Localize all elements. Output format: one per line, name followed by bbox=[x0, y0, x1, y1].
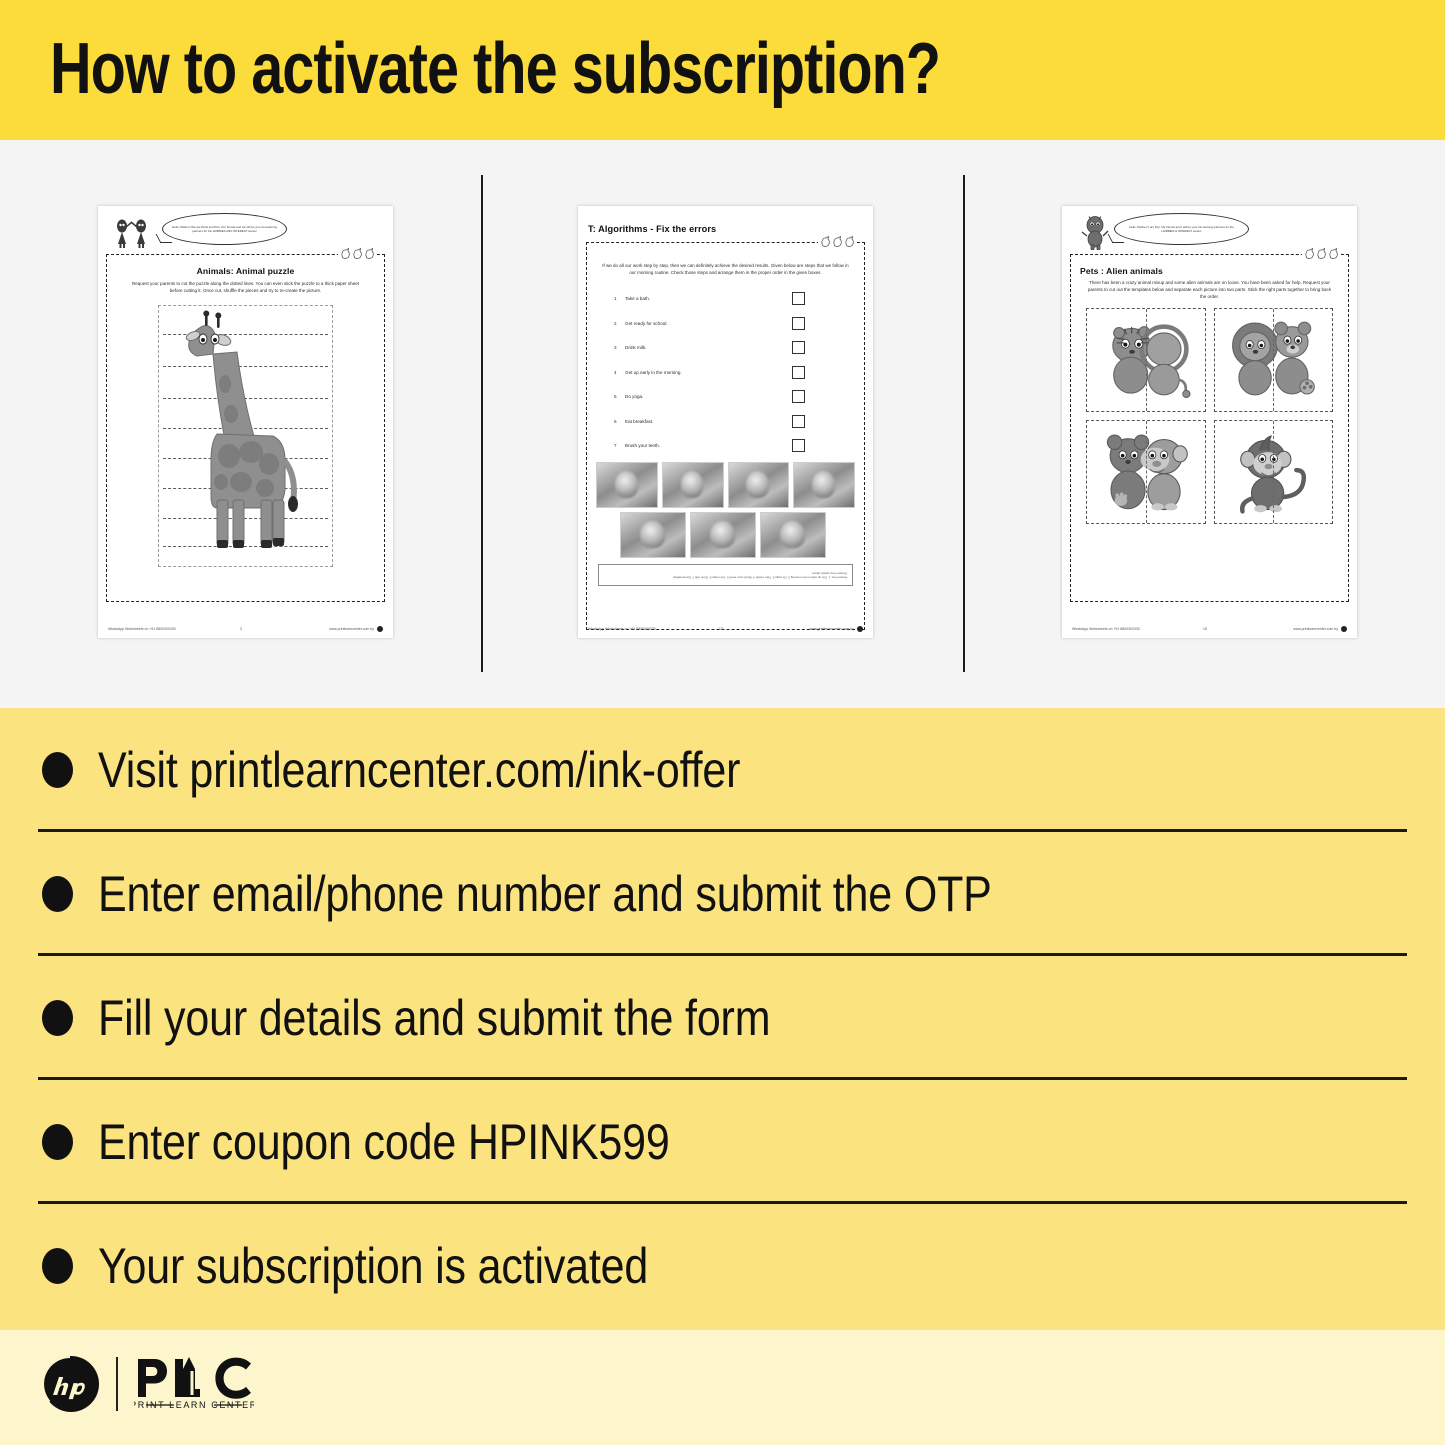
worksheet-dashed-frame: Animals: Animal puzzle Request your pare… bbox=[106, 254, 385, 602]
duck-decoration-icon bbox=[1302, 247, 1341, 259]
step-item-1: Visit printlearncenter.com/ink-offer bbox=[0, 708, 1445, 832]
worksheet-title: Pets : Alien animals bbox=[1080, 266, 1339, 276]
child-eating-breakfast-photo bbox=[690, 512, 756, 558]
step-checkbox[interactable] bbox=[792, 366, 805, 379]
bullet-dot-icon bbox=[42, 1248, 73, 1284]
photo-row-2 bbox=[620, 512, 855, 558]
worksheet-description: Request your parents to cut the puzzle a… bbox=[126, 281, 365, 295]
child-stretching-photo bbox=[596, 462, 658, 508]
activation-steps-list: Visit printlearncenter.com/ink-offer Ent… bbox=[0, 708, 1445, 1330]
hp-logo-icon bbox=[42, 1355, 100, 1413]
checklist-row[interactable]: 4 Get up early in the morning. bbox=[614, 360, 851, 385]
checklist-row[interactable]: 6 Eat breakfast. bbox=[614, 409, 851, 434]
step-label: Brush your teeth. bbox=[625, 443, 792, 448]
mascot-row: Hello children! We are Dhoti and Roti. O… bbox=[106, 212, 385, 252]
step-number: 2 bbox=[614, 321, 625, 326]
mascot-row: Hello children! I am Pop. My friends and… bbox=[1070, 212, 1349, 252]
plc-logo-icon: PRINT LEARN CENTER bbox=[134, 1353, 254, 1415]
worksheet-footer: WhatsApp Worksheets on +91 8800300330 3 … bbox=[108, 626, 383, 632]
split-animal-card-grid bbox=[1086, 308, 1333, 524]
checklist-row[interactable]: 5 Do yoga. bbox=[614, 385, 851, 410]
bullet-dot-icon bbox=[42, 876, 73, 912]
bullet-dot-icon bbox=[42, 1124, 73, 1160]
worksheet-description: If we do all our work step by step, then… bbox=[602, 263, 849, 277]
monkey-monkey-split-card[interactable] bbox=[1214, 420, 1334, 524]
worksheet-footer-right: www.printlearncenter.com by bbox=[734, 627, 854, 631]
step-text: Your subscription is activated bbox=[98, 1237, 648, 1295]
checklist-row[interactable]: 7 Brush your teeth. bbox=[614, 434, 851, 459]
brand-footer: PRINT LEARN CENTER bbox=[0, 1330, 1445, 1445]
worksheet-footer-right: www.printlearncenter.com by bbox=[1218, 627, 1338, 631]
duck-decoration-icon bbox=[818, 235, 857, 247]
step-checkbox[interactable] bbox=[792, 341, 805, 354]
card-cut-line bbox=[1146, 421, 1147, 523]
checklist-row[interactable]: 2 Get ready for school. bbox=[614, 311, 851, 336]
header-banner: How to activate the subscription? bbox=[0, 0, 1445, 140]
lion-bear-split-card[interactable] bbox=[1214, 308, 1334, 412]
step-checkbox[interactable] bbox=[792, 415, 805, 428]
checklist-row[interactable]: 3 Drink milk. bbox=[614, 336, 851, 361]
speech-bubble: Hello children! We are Dhoti and Roti. O… bbox=[162, 213, 287, 245]
worksheet-footer-right: www.printlearncenter.com by bbox=[254, 627, 374, 631]
plc-tagline-text: PRINT LEARN CENTER bbox=[134, 1400, 254, 1410]
worksheet-footer-left: WhatsApp Worksheets on +91 8800300330 bbox=[108, 627, 228, 631]
worksheet-showcase: Hello children! We are Dhoti and Roti. O… bbox=[0, 140, 1445, 708]
checklist-row[interactable]: 1 Take a bath. bbox=[614, 287, 851, 312]
bullet-dot-icon bbox=[42, 752, 73, 788]
worksheet-page-number: 3 bbox=[228, 627, 254, 631]
step-label: Do yoga. bbox=[625, 394, 792, 399]
step-item-3: Fill your details and submit the form bbox=[0, 956, 1445, 1080]
vertical-divider-2 bbox=[963, 175, 965, 672]
hp-logo-icon bbox=[1341, 626, 1347, 632]
child-with-school-bag-photo bbox=[760, 512, 826, 558]
step-label: Get ready for school. bbox=[625, 321, 792, 326]
step-number: 3 bbox=[614, 345, 625, 350]
worksheet-footer-left: WhatsApp Worksheets on +91 8800300330 bbox=[1072, 627, 1192, 631]
worksheet-dashed-frame: If we do all our work step by step, then… bbox=[586, 242, 865, 630]
worksheet-footer: WhatsApp Worksheets on +91 8800300330 13… bbox=[588, 626, 863, 632]
giraffe-illustration bbox=[181, 310, 301, 562]
bullet-dot-icon bbox=[42, 1000, 73, 1036]
tiger-lion-split-card[interactable] bbox=[1086, 308, 1206, 412]
step-number: 1 bbox=[614, 296, 625, 301]
step-number: 4 bbox=[614, 370, 625, 375]
step-label: Drink milk. bbox=[625, 345, 792, 350]
hp-logo-icon bbox=[857, 626, 863, 632]
photo-row-1 bbox=[596, 462, 855, 508]
worksheet-footer-left: WhatsApp Worksheets on +91 8800300330 bbox=[588, 627, 708, 631]
worksheet-footer: WhatsApp Worksheets on +91 8800300330 15… bbox=[1072, 626, 1347, 632]
step-label: Eat breakfast. bbox=[625, 419, 792, 424]
step-number: 5 bbox=[614, 394, 625, 399]
step-text: Fill your details and submit the form bbox=[98, 989, 770, 1047]
answer-key-text: Answer key: 1. Get up early in the morni… bbox=[673, 575, 847, 580]
page-title: How to activate the subscription? bbox=[50, 28, 940, 110]
worksheet-dashed-frame: Pets : Alien animals There has been a cr… bbox=[1070, 254, 1349, 602]
step-text: Enter email/phone number and submit the … bbox=[98, 865, 992, 923]
promo-page: How to activate the subscription? bbox=[0, 0, 1445, 1445]
step-item-4: Enter coupon code HPINK599 bbox=[0, 1080, 1445, 1204]
step-text: Enter coupon code HPINK599 bbox=[98, 1113, 670, 1171]
card-cut-line bbox=[1273, 309, 1274, 411]
worksheet-title: T: Algorithms - Fix the errors bbox=[588, 224, 716, 234]
step-number: 6 bbox=[614, 419, 625, 424]
step-number: 7 bbox=[614, 443, 625, 448]
step-checkbox[interactable] bbox=[792, 317, 805, 330]
logo-divider bbox=[116, 1357, 118, 1411]
worksheet-card-pets[interactable]: Hello children! I am Pop. My friends and… bbox=[1062, 206, 1357, 638]
giraffe-puzzle-frame bbox=[158, 305, 333, 567]
mascot-character-icon bbox=[1080, 214, 1110, 250]
worksheet-description: There has been a crazy animal mixup and … bbox=[1086, 280, 1333, 300]
duck-decoration-icon bbox=[338, 247, 377, 259]
step-checkbox[interactable] bbox=[792, 439, 805, 452]
mascot-characters-icon bbox=[110, 214, 156, 250]
child-drinking-milk-photo bbox=[728, 462, 790, 508]
step-checkbox[interactable] bbox=[792, 292, 805, 305]
vertical-divider-1 bbox=[481, 175, 483, 672]
worksheet-card-algorithms[interactable]: T: Algorithms - Fix the errors If we do … bbox=[578, 206, 873, 638]
step-checkbox[interactable] bbox=[792, 390, 805, 403]
steps-checklist: 1 Take a bath. 2 Get ready for school. 3… bbox=[614, 287, 851, 459]
answer-key-box: (Answer key upside down) Answer key: 1. … bbox=[598, 564, 853, 586]
worksheet-page-number: 13 bbox=[708, 627, 734, 631]
step-item-2: Enter email/phone number and submit the … bbox=[0, 832, 1445, 956]
logo-lockup: PRINT LEARN CENTER bbox=[42, 1353, 254, 1415]
child-brushing-teeth-photo bbox=[662, 462, 724, 508]
worksheet-page-number: 15 bbox=[1192, 627, 1218, 631]
step-label: Get up early in the morning. bbox=[625, 370, 792, 375]
card-cut-line bbox=[1273, 421, 1274, 523]
hp-logo-icon bbox=[377, 626, 383, 632]
step-label: Take a bath. bbox=[625, 296, 792, 301]
worksheet-card-animals[interactable]: Hello children! We are Dhoti and Roti. O… bbox=[98, 206, 393, 638]
child-in-bath-photo bbox=[620, 512, 686, 558]
step-text: Visit printlearncenter.com/ink-offer bbox=[98, 741, 740, 799]
card-cut-line bbox=[1146, 309, 1147, 411]
step-item-5: Your subscription is activated bbox=[0, 1204, 1445, 1328]
worksheet-title: Animals: Animal puzzle bbox=[116, 266, 375, 276]
child-doing-yoga-photo bbox=[793, 462, 855, 508]
bear-monkey-split-card[interactable] bbox=[1086, 420, 1206, 524]
speech-bubble: Hello children! I am Pop. My friends and… bbox=[1114, 213, 1249, 245]
